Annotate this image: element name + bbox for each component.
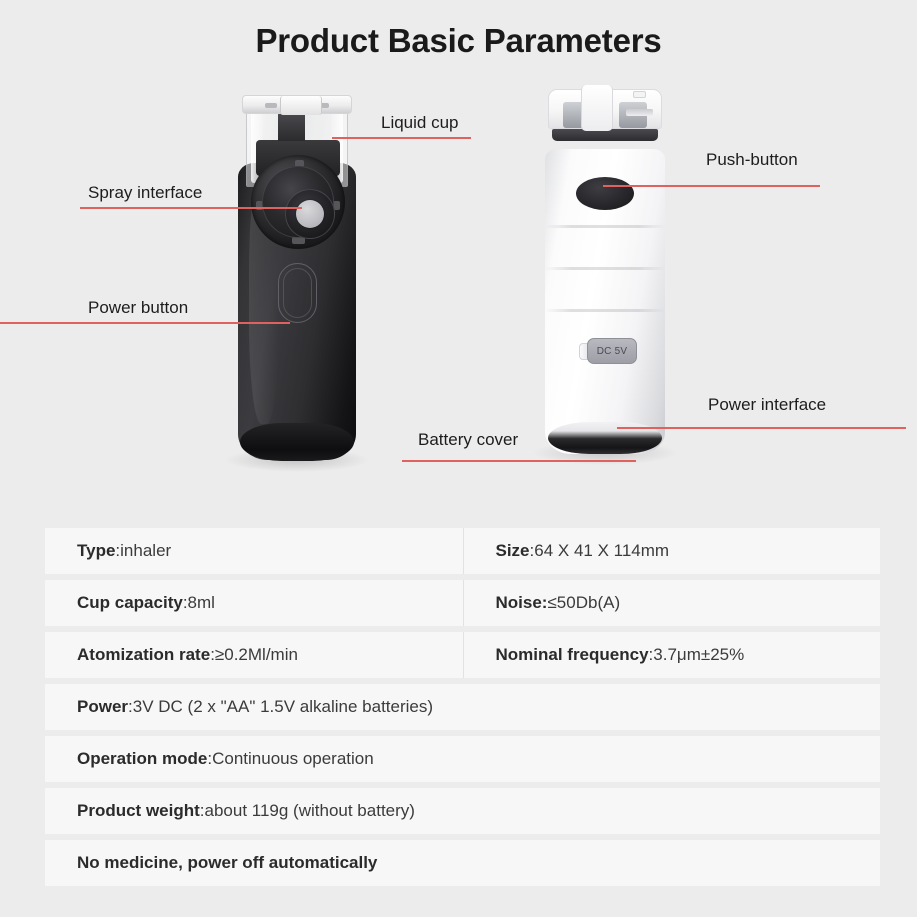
spec-cell-size: Size: 64 X 41 X 114mm <box>463 528 881 574</box>
cap-latch-slot <box>626 109 653 116</box>
spec-cell-nominal-frequency: Nominal frequency: 3.7μm±25% <box>463 632 881 678</box>
spec-value: 3.7μm±25% <box>653 645 744 665</box>
spec-label: Noise: <box>496 593 548 613</box>
specification-table: Type: inhaler Size: 64 X 41 X 114mm Cup … <box>45 528 880 886</box>
push-button-white[interactable] <box>576 177 634 210</box>
spray-nozzle-assembly <box>251 155 345 249</box>
spec-cell-power: Power: 3V DC (2 x "AA" 1.5V alkaline bat… <box>45 684 880 730</box>
nozzle-ring-outer <box>262 166 334 238</box>
power-interface-port: DC 5V <box>587 338 637 364</box>
callout-push-button: Push-button <box>706 150 798 170</box>
cap-slot-left <box>265 103 277 108</box>
power-button-black[interactable] <box>278 263 317 323</box>
spec-label: Nominal frequency <box>496 645 649 665</box>
callout-liquid-cup: Liquid cup <box>381 113 459 133</box>
spec-cell-cup-capacity: Cup capacity: 8ml <box>45 580 463 626</box>
spec-cell-noise: Noise: ≤50Db(A) <box>463 580 881 626</box>
product-parameters-page: Product Basic Parameters <box>0 0 917 917</box>
page-title: Product Basic Parameters <box>0 22 917 60</box>
grip-ridge-1 <box>545 225 665 228</box>
leader-line-power-button <box>0 322 290 324</box>
callout-power-interface: Power interface <box>708 395 826 415</box>
spec-label: Type <box>77 541 115 561</box>
spec-value: 3V DC (2 x "AA" 1.5V alkaline batteries) <box>133 697 433 717</box>
spec-label: Power <box>77 697 128 717</box>
grip-ridge-3 <box>545 309 665 312</box>
spec-label: Product weight <box>77 801 200 821</box>
white-device-image: DC 5V <box>540 85 670 465</box>
callout-battery-cover: Battery cover <box>418 430 518 450</box>
spec-value: 64 X 41 X 114mm <box>534 541 669 561</box>
black-device-base <box>240 423 354 461</box>
power-port-label: DC 5V <box>597 346 627 357</box>
table-row: Operation mode: Continuous operation <box>45 736 880 782</box>
spray-mesh-interface <box>296 200 324 228</box>
table-row: Power: 3V DC (2 x "AA" 1.5V alkaline bat… <box>45 684 880 730</box>
spec-label: Operation mode <box>77 749 207 769</box>
table-row: No medicine, power off automatically <box>45 840 880 886</box>
table-row: Cup capacity: 8ml Noise: ≤50Db(A) <box>45 580 880 626</box>
leader-line-power-interface <box>617 427 906 429</box>
spec-cell-type: Type: inhaler <box>45 528 463 574</box>
spec-label: Atomization rate <box>77 645 210 665</box>
spec-label: Size <box>496 541 530 561</box>
cap-hinge <box>280 96 322 115</box>
spec-value: 8ml <box>188 593 215 613</box>
spec-cell-product-weight: Product weight: about 119g (without batt… <box>45 788 880 834</box>
spec-cell-atomization-rate: Atomization rate: ≥0.2Ml/min <box>45 632 463 678</box>
table-row: Atomization rate: ≥0.2Ml/min Nominal fre… <box>45 632 880 678</box>
leader-line-battery-cover <box>402 460 636 462</box>
callout-power-button: Power button <box>88 298 188 318</box>
spec-value: about 119g (without battery) <box>205 801 415 821</box>
spec-value: inhaler <box>120 541 171 561</box>
black-device-image <box>234 93 360 463</box>
cap-latch-tab <box>581 85 613 131</box>
table-row: Product weight: about 119g (without batt… <box>45 788 880 834</box>
spec-cell-auto-power-off: No medicine, power off automatically <box>45 840 880 886</box>
spec-value: ≥0.2Ml/min <box>215 645 298 665</box>
spec-value: Continuous operation <box>212 749 374 769</box>
cap-latch-notch <box>633 91 646 98</box>
leader-line-spray-interface <box>80 207 302 209</box>
cup-center-tab <box>278 113 305 141</box>
spec-label: No medicine, power off automatically <box>77 853 377 873</box>
spec-value: ≤50Db(A) <box>547 593 620 613</box>
callout-spray-interface: Spray interface <box>88 183 202 203</box>
spec-label: Cup capacity <box>77 593 183 613</box>
grip-ridge-2 <box>545 267 665 270</box>
table-row: Type: inhaler Size: 64 X 41 X 114mm <box>45 528 880 574</box>
product-photo-area: DC 5V Liquid cup Spray interface Power b… <box>0 75 917 510</box>
leader-line-push-button <box>603 185 820 187</box>
spec-cell-operation-mode: Operation mode: Continuous operation <box>45 736 880 782</box>
black-device-cap <box>242 95 352 114</box>
leader-line-liquid-cup <box>332 137 471 139</box>
